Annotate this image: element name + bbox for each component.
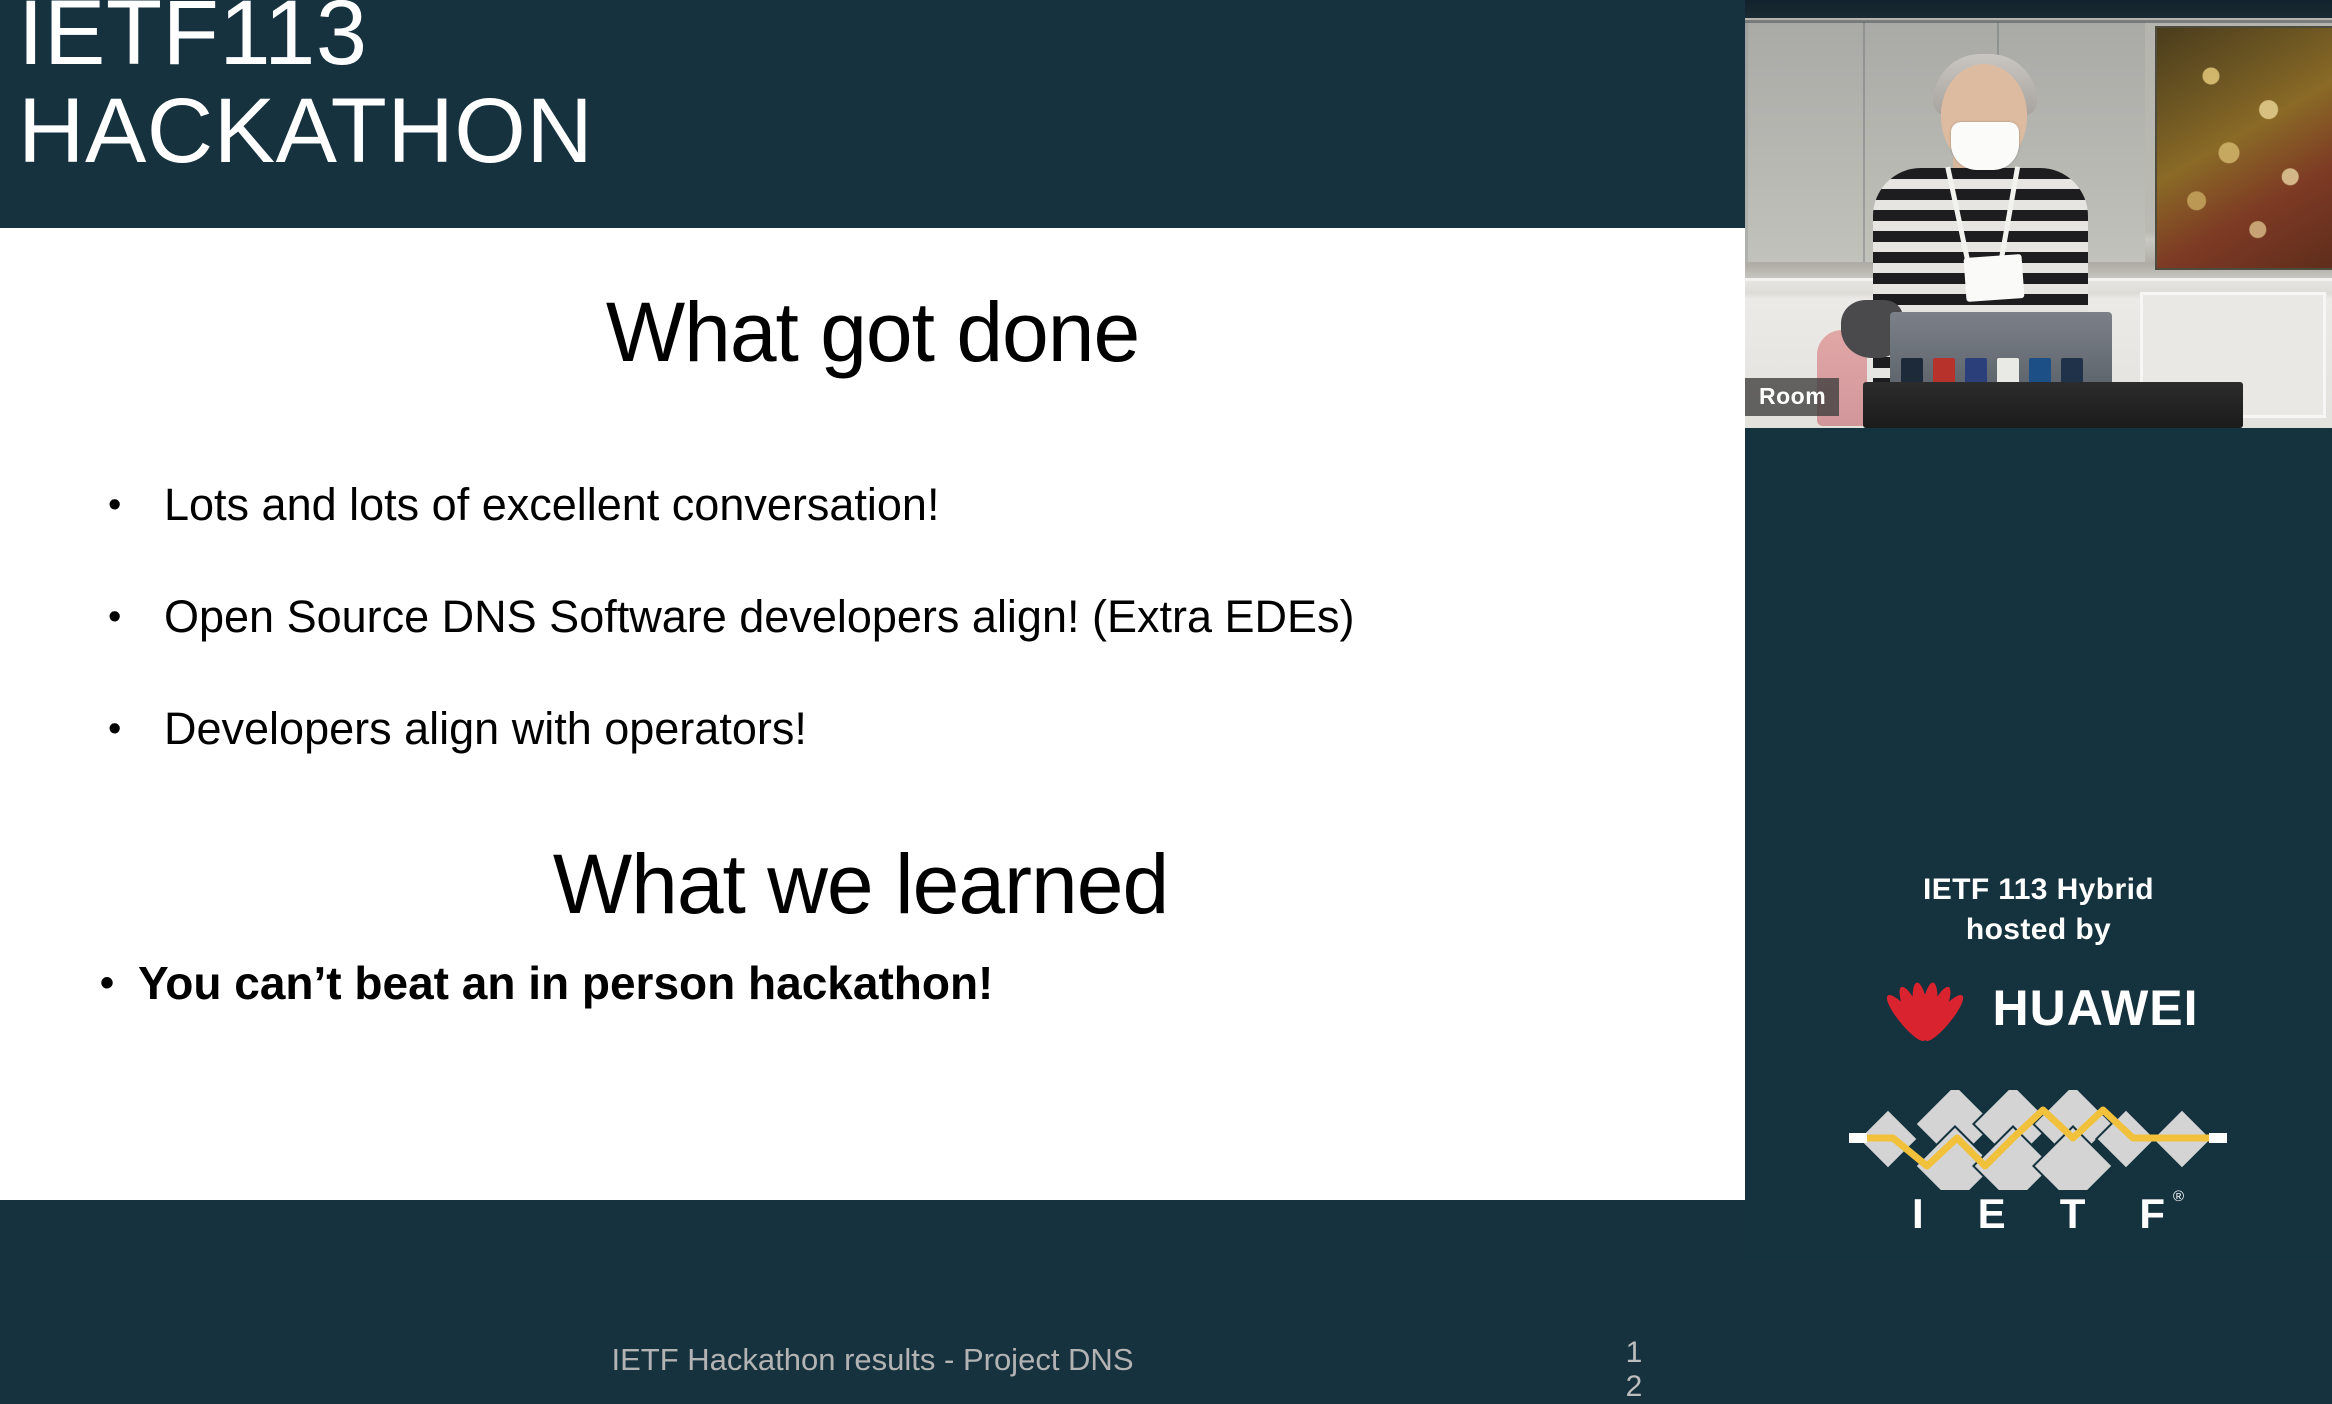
list-item: • Open Source DNS Software developers al… [108,590,1668,644]
video-participant-name-label: Room [1745,378,1839,416]
slide-footer-bar [0,1200,1745,1260]
list-item-label: Developers align with operators! [164,702,1668,756]
slide-header-banner: IETF113 HACKATHON [0,0,1745,228]
bullet-list-what-we-learned: • You can’t beat an in person hackathon! [100,956,1680,1010]
list-item-label: Open Source DNS Software developers alig… [164,590,1668,644]
ietf-letter-i: I [1912,1190,1924,1238]
sidebar-panel: Room IETF 113 Hybrid hosted by HUAWEI [1745,0,2332,1260]
list-item: • Lots and lots of excellent conversatio… [108,478,1668,532]
ietf-letter-f: F® [2139,1190,2165,1238]
ietf-diamond-chain-icon [1745,1090,2332,1190]
list-item-label: You can’t beat an in person hackathon! [138,956,1680,1010]
list-item: • Developers align with operators! [108,702,1668,756]
sponsor-host-label: IETF 113 Hybrid hosted by [1745,870,2332,950]
bullet-dot-icon: • [100,956,138,1010]
sponsor-block: IETF 113 Hybrid hosted by HUAWEI [1745,870,2332,1040]
podium [1863,382,2243,428]
bullet-dot-icon: • [108,590,164,644]
sponsor-logo: HUAWEI [1745,976,2332,1040]
huawei-flower-icon [1879,976,1971,1040]
slide-region: IETF113 HACKATHON What got done • Lots a… [0,0,1745,1260]
ietf-logo: I E T F® [1745,1090,2332,1250]
bullet-dot-icon: • [108,702,164,756]
list-item-label: Lots and lots of excellent conversation! [164,478,1668,532]
slide-section-title-what-we-learned: What we learned [0,838,1745,930]
slide-page-number: 1 2 [1614,1336,1654,1404]
slide-canvas: What got done • Lots and lots of excelle… [0,228,1745,1200]
list-item: • You can’t beat an in person hackathon! [100,956,1680,1010]
wall-artwork [2155,26,2332,270]
video-tile-room[interactable]: Room [1745,0,2332,428]
bullet-dot-icon: • [108,478,164,532]
bullet-list-what-got-done: • Lots and lots of excellent conversatio… [108,478,1668,814]
ietf-letter-e: E [1978,1190,2006,1238]
ietf-letter-t: T [2060,1190,2086,1238]
meeting-screen: IETF113 HACKATHON What got done • Lots a… [0,0,2332,1260]
name-badge [1964,254,2025,302]
slide-footer-label: IETF Hackathon results - Project DNS [0,1341,1745,1379]
video-feed-image [1745,0,2332,428]
registered-trademark-icon: ® [2173,1188,2184,1205]
face-mask [1951,122,2019,170]
sponsor-name-label: HUAWEI [1993,979,2199,1037]
slide-section-title-what-got-done: What got done [0,286,1745,378]
ietf-wordmark: I E T F® [1745,1190,2332,1238]
meeting-header-title: IETF113 HACKATHON [18,0,593,180]
